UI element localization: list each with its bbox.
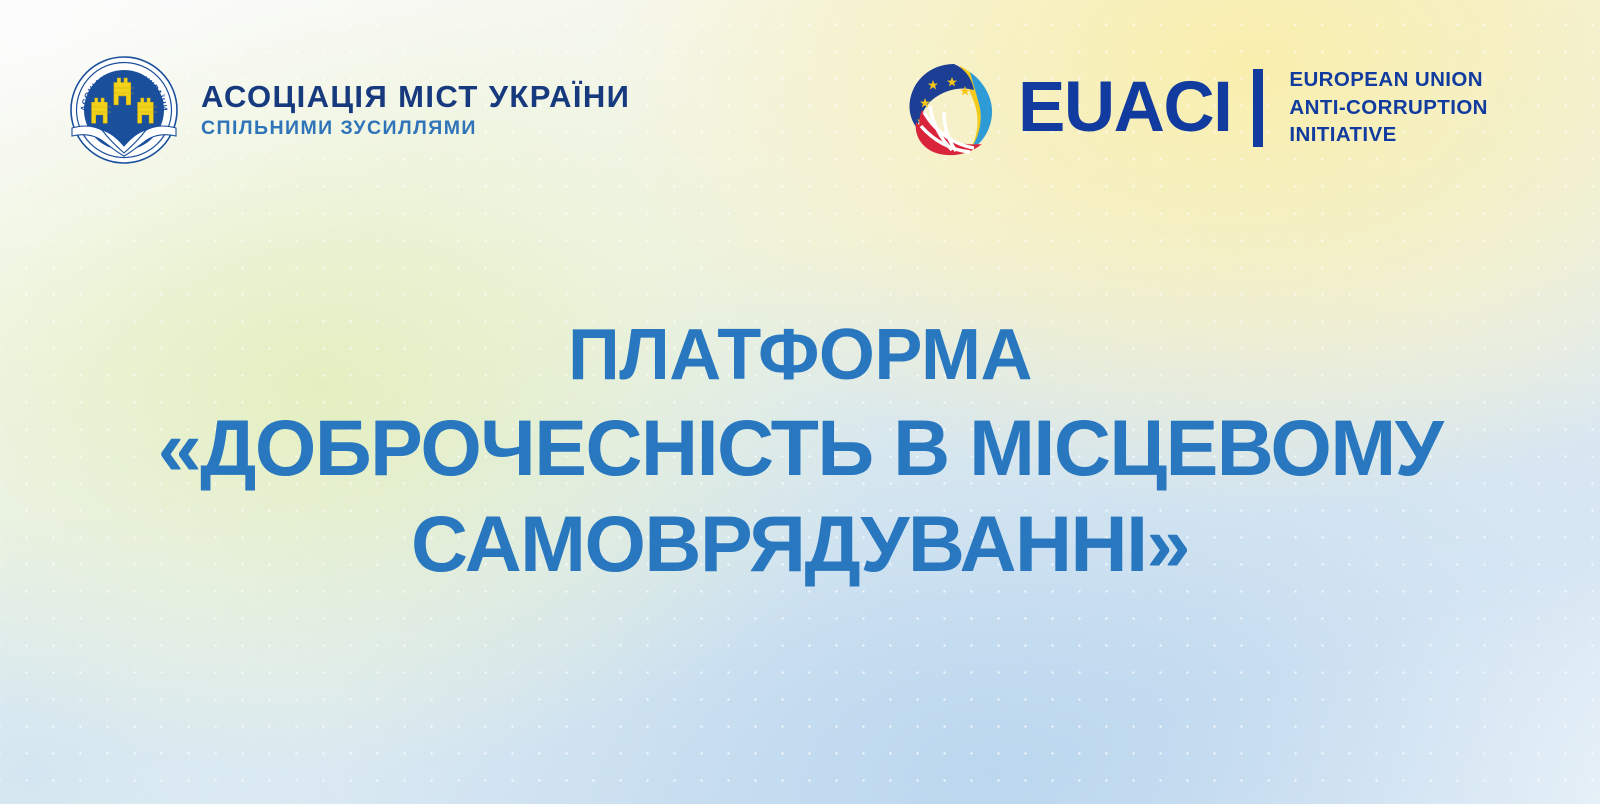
euaci-tagline-line-2: ANTI-CORRUPTION [1289, 96, 1487, 121]
amu-text-block: АСОЦІАЦІЯ МІСТ УКРАЇНИ СПІЛЬНИМИ ЗУСИЛЛЯ… [201, 81, 630, 139]
euaci-logo: EUACI EUROPEAN UNION ANTI-CORRUPTION INI… [900, 56, 1488, 160]
title-line-2: «ДОБРОЧЕСНІСТЬ В МІСЦЕВОМУ [0, 400, 1600, 496]
euaci-emblem-icon [900, 56, 1004, 160]
amu-logo: АСОЦІАЦІЯ МІСТ УКРАЇНИ [68, 54, 630, 166]
logo-bar: АСОЦІАЦІЯ МІСТ УКРАЇНИ [0, 54, 1600, 162]
title-line-1: ПЛАТФОРМА [0, 312, 1600, 400]
euaci-divider [1253, 69, 1263, 147]
euaci-tagline: EUROPEAN UNION ANTI-CORRUPTION INITIATIV… [1289, 68, 1487, 148]
amu-seal-icon: АСОЦІАЦІЯ МІСТ УКРАЇНИ [68, 54, 180, 166]
euaci-tagline-line-3: INITIATIVE [1289, 123, 1487, 148]
euaci-tagline-line-1: EUROPEAN UNION [1289, 68, 1487, 93]
title-line-3: САМОВРЯДУВАННІ» [0, 496, 1600, 592]
presentation-banner: АСОЦІАЦІЯ МІСТ УКРАЇНИ [0, 0, 1600, 804]
page-title: ПЛАТФОРМА «ДОБРОЧЕСНІСТЬ В МІСЦЕВОМУ САМ… [0, 312, 1600, 593]
amu-title: АСОЦІАЦІЯ МІСТ УКРАЇНИ [201, 81, 630, 112]
amu-subtitle: СПІЛЬНИМИ ЗУСИЛЛЯМИ [201, 119, 630, 139]
euaci-wordmark: EUACI [1018, 75, 1231, 140]
